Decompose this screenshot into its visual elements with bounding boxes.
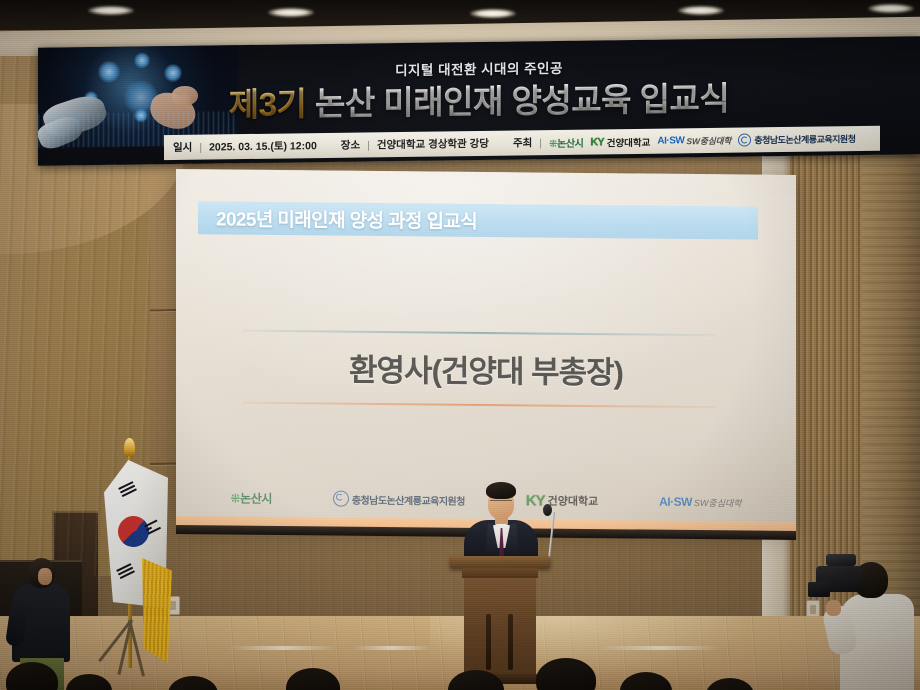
ceiling-light-icon (868, 4, 914, 13)
banner-title-gold: 제3기 (229, 85, 307, 123)
podium-body (464, 578, 536, 684)
ky-university-label: 건양대학교 (607, 134, 651, 149)
education-office-label: 충청남도논산계룡교육지원청 (754, 132, 855, 146)
ceiling-light-icon (470, 9, 516, 18)
nonsan-city-label: 논산시 (557, 139, 583, 150)
education-office-mark (333, 491, 349, 507)
ai-sw-label: SW중심대학 (686, 134, 731, 147)
slide-header-text: 2025년 미래인재 양성 과정 입교식 (216, 204, 477, 234)
nonsan-city-logo-icon: ⁜논산시 (230, 489, 272, 506)
ai-sw-logo-icon: AI·SW SW중심대학 (657, 134, 731, 147)
ceiling-light-icon (678, 6, 724, 15)
education-office-label: 충청남도논산계룡교육지원청 (352, 491, 465, 507)
slide-body-text: 환영사(건양대 부총장) (176, 343, 796, 394)
separator: | (539, 137, 542, 149)
slide-divider-top (242, 330, 716, 337)
ai-sw-label: SW중심대학 (694, 495, 742, 508)
place-label: 장소 (341, 138, 360, 153)
microphone-head-icon (543, 504, 552, 516)
camera-screen (808, 582, 830, 597)
banner-title: 제3기 논산 미래인재 양성교육 입교식 (38, 69, 920, 129)
podium-slot (486, 614, 491, 670)
separator: | (199, 141, 202, 153)
ky-mark-label: KY (590, 136, 603, 148)
podium-neck (462, 568, 538, 578)
ky-university-logo-icon: KY 건양대학교 (590, 134, 650, 149)
attendee-face (38, 568, 52, 585)
ai-sw-mark-label: AI·SW (659, 495, 692, 509)
camera-operator (820, 560, 920, 690)
nonsan-city-label: 논산시 (240, 491, 272, 505)
event-banner: 디지털 대전환 시대의 주인공 제3기 논산 미래인재 양성교육 입교식 일시 … (38, 36, 920, 166)
education-office-logo-icon: 충청남도논산계룡교육지원청 (738, 132, 855, 147)
banner-info-bar: 일시 | 2025. 03. 15.(토) 12:00 장소 | 건양대학교 경… (164, 126, 880, 160)
slide-header-band: 2025년 미래인재 양성 과정 입교식 (198, 201, 758, 239)
host-label: 주최 (513, 135, 532, 150)
ai-sw-mark-label: AI·SW (657, 135, 684, 146)
slide-divider-bottom (242, 402, 716, 409)
date-label: 일시 (173, 140, 192, 155)
flag-finial-icon (124, 438, 135, 458)
ceiling-light-icon (268, 8, 314, 17)
ceiling-light-icon (88, 6, 134, 15)
ky-university-label: 건양대학교 (548, 493, 599, 509)
nonsan-city-logo-icon: ⁜논산시 (549, 135, 583, 150)
speaker-hair (486, 482, 516, 499)
place-value: 건양대학교 경상학관 강당 (377, 136, 489, 152)
speaker-person (462, 478, 540, 568)
date-value: 2025. 03. 15.(토) 12:00 (209, 138, 317, 154)
operator-hand (826, 600, 841, 616)
korean-flag (96, 438, 178, 670)
camera-hood (826, 554, 856, 566)
floor-light-strip (352, 646, 432, 650)
ceremony-photo: 디지털 대전환 시대의 주인공 제3기 논산 미래인재 양성교육 입교식 일시 … (0, 0, 920, 690)
banner-title-white: 논산 미래인재 양성교육 입교식 (315, 80, 729, 122)
podium-slot (508, 614, 513, 670)
flag-stand (106, 620, 172, 678)
floor-light-strip (228, 646, 338, 650)
speaker-glasses-icon (490, 500, 512, 506)
podium-top (450, 556, 550, 568)
floor-light-strip (600, 646, 720, 650)
separator: | (367, 139, 370, 151)
ai-sw-logo-icon: AI·SW SW중심대학 (659, 495, 741, 510)
education-office-mark (738, 133, 751, 146)
education-office-logo-icon: 충청남도논산계룡교육지원청 (333, 491, 465, 508)
podium (458, 556, 542, 684)
